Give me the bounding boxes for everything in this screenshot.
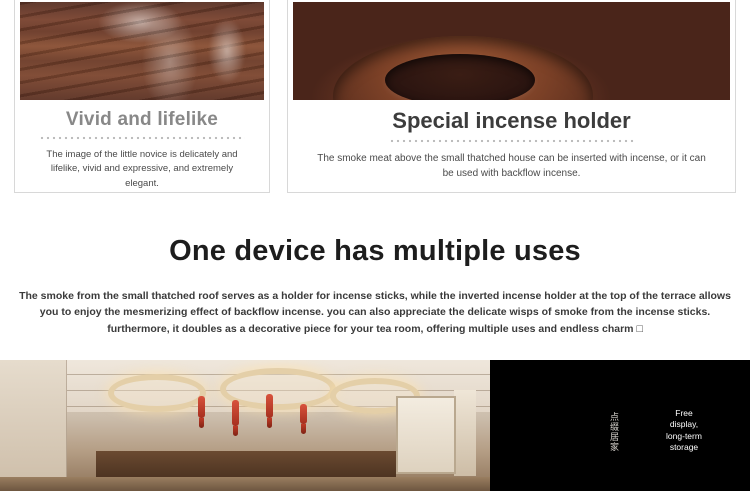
feature-card-description: The smoke meat above the small thatched … (312, 151, 712, 181)
dotted-divider (39, 136, 245, 140)
black-info-panel: 点缀居家 Free display, long-term storage (490, 360, 750, 491)
left-wall (0, 360, 67, 491)
free-display-caption: Free display, long-term storage (660, 408, 708, 454)
red-tassel (198, 396, 205, 418)
bottom-banner: 点缀居家 Free display, long-term storage (0, 360, 750, 491)
dotted-divider (389, 139, 635, 143)
red-tassel (266, 394, 273, 418)
section-headline: One device has multiple uses (0, 235, 750, 268)
pendant-lamp-ring (108, 374, 206, 412)
chinese-style-tea-room-photo (0, 360, 490, 491)
curtain (454, 390, 476, 476)
feature-card-description: The image of the little novice is delica… (42, 148, 242, 191)
feature-card-title: Vivid and lifelike (15, 109, 269, 131)
incense-holder-closeup-photo (293, 2, 730, 100)
floor (0, 477, 490, 491)
feature-card-incense-holder: Special incense holder The smoke meat ab… (287, 0, 736, 193)
feature-card-vivid: Vivid and lifelike The image of the litt… (14, 0, 270, 193)
section-paragraph: The smoke from the small thatched roof s… (11, 288, 739, 337)
vertical-chinese-caption: 点缀居家 (608, 412, 619, 452)
feature-cards: Vivid and lifelike The image of the litt… (0, 0, 750, 196)
red-tassel (232, 400, 239, 426)
red-tassel (300, 404, 307, 424)
feature-card-title: Special incense holder (288, 108, 735, 134)
window (396, 396, 456, 474)
product-detail-page: Vivid and lifelike The image of the litt… (0, 0, 750, 491)
clay-figurine-with-smoke-photo (20, 2, 264, 100)
